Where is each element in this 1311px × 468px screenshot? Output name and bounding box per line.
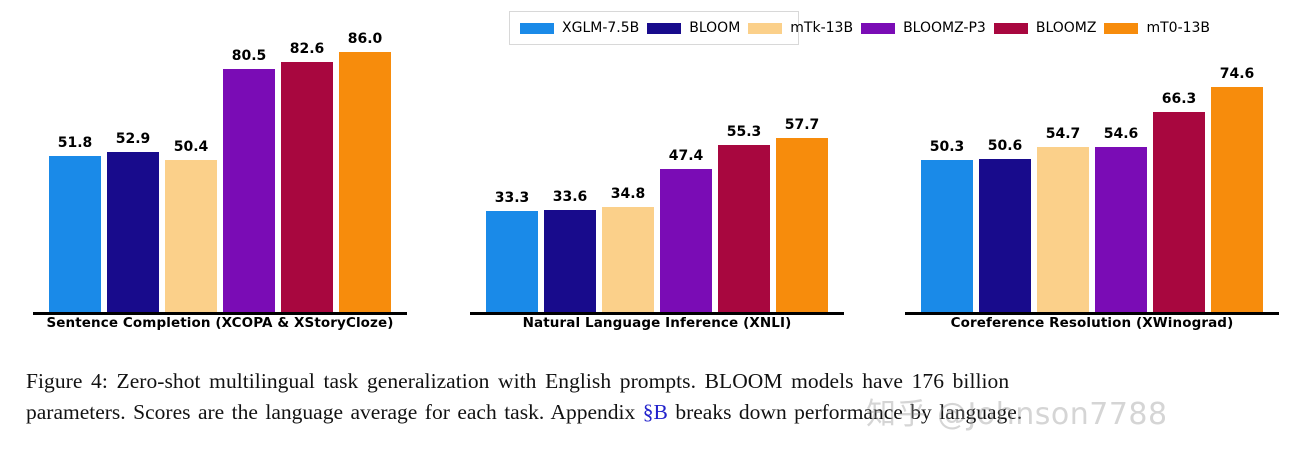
bar-item-bloomz[interactable]: 82.6 xyxy=(281,0,333,312)
figure-caption: Figure 4: Zero-shot multilingual task ge… xyxy=(26,366,1288,428)
bar-value-label: 54.7 xyxy=(1046,127,1081,141)
legend-item-label: BLOOMZ xyxy=(1036,21,1097,35)
caption-line-2-part-a: parameters. Scores are the language aver… xyxy=(26,400,643,424)
panel-axis-label: Natural Language Inference (XNLI) xyxy=(470,315,844,331)
bar-item-bloomz-p3[interactable]: 80.5 xyxy=(223,0,275,312)
bar-rect[interactable] xyxy=(49,156,101,312)
legend-swatch-icon xyxy=(748,23,782,34)
bar-value-label: 50.6 xyxy=(988,139,1023,153)
plot-area: 51.852.950.480.582.686.0 xyxy=(33,0,407,312)
legend-swatch-icon xyxy=(994,23,1028,34)
bar-rect[interactable] xyxy=(776,138,828,312)
bar-rect[interactable] xyxy=(281,62,333,312)
bar-item-bloom[interactable]: 52.9 xyxy=(107,0,159,312)
panel-axis-label: Sentence Completion (XCOPA & XStoryCloze… xyxy=(33,315,407,331)
plot-area: 33.333.634.847.455.357.7 xyxy=(470,0,844,312)
figure-container: 51.852.950.480.582.686.0Sentence Complet… xyxy=(0,0,1311,468)
plot-area: 50.350.654.754.666.374.6 xyxy=(905,0,1279,312)
bar-rect[interactable] xyxy=(165,160,217,312)
legend-item-label: mT0-13B xyxy=(1146,21,1210,35)
bar-item-mt0-13b[interactable]: 74.6 xyxy=(1211,0,1263,312)
legend-item-bloom[interactable]: BLOOM xyxy=(647,19,740,37)
bar-rect[interactable] xyxy=(339,52,391,312)
bar-rect[interactable] xyxy=(1095,147,1147,312)
bar-value-label: 80.5 xyxy=(232,49,267,63)
bar-item-bloomz[interactable]: 66.3 xyxy=(1153,0,1205,312)
legend-item-label: mTk-13B xyxy=(790,21,853,35)
bar-rect[interactable] xyxy=(1211,87,1263,312)
bar-value-label: 47.4 xyxy=(669,149,704,163)
bar-item-mt0-13b[interactable]: 86.0 xyxy=(339,0,391,312)
bar-item-xglm-7-5b[interactable]: 33.3 xyxy=(486,0,538,312)
bar-value-label: 33.3 xyxy=(495,191,530,205)
bar-rect[interactable] xyxy=(486,211,538,312)
bar-item-xglm-7-5b[interactable]: 50.3 xyxy=(921,0,973,312)
bar-rect[interactable] xyxy=(1037,147,1089,312)
legend-swatch-icon xyxy=(647,23,681,34)
bar-value-label: 52.9 xyxy=(116,132,151,146)
bar-value-label: 33.6 xyxy=(553,190,588,204)
bar-group: 51.852.950.480.582.686.0 xyxy=(49,0,391,312)
legend-item-bloomz-p3[interactable]: BLOOMZ-P3 xyxy=(861,19,986,37)
bar-item-bloomz[interactable]: 55.3 xyxy=(718,0,770,312)
legend-swatch-icon xyxy=(520,23,554,34)
bar-value-label: 57.7 xyxy=(785,118,820,132)
panel-axis-label: Coreference Resolution (XWinograd) xyxy=(905,315,1279,331)
caption-line-2: parameters. Scores are the language aver… xyxy=(26,397,1288,428)
bar-value-label: 50.4 xyxy=(174,140,209,154)
bar-item-bloom[interactable]: 50.6 xyxy=(979,0,1031,312)
bar-item-bloom[interactable]: 33.6 xyxy=(544,0,596,312)
legend-item-mt0-13b[interactable]: mT0-13B xyxy=(1104,19,1210,37)
bar-value-label: 50.3 xyxy=(930,140,965,154)
bar-item-mt0-13b[interactable]: 57.7 xyxy=(776,0,828,312)
legend-item-bloomz[interactable]: BLOOMZ xyxy=(994,19,1097,37)
bar-rect[interactable] xyxy=(718,145,770,312)
legend-item-label: XGLM-7.5B xyxy=(562,21,639,35)
bar-group: 33.333.634.847.455.357.7 xyxy=(486,0,828,312)
bar-value-label: 54.6 xyxy=(1104,127,1139,141)
bar-item-bloomz-p3[interactable]: 47.4 xyxy=(660,0,712,312)
bar-item-mtk-13b[interactable]: 34.8 xyxy=(602,0,654,312)
bar-rect[interactable] xyxy=(921,160,973,312)
bar-rect[interactable] xyxy=(602,207,654,312)
caption-section-reference-link[interactable]: §B xyxy=(643,400,668,424)
bar-value-label: 86.0 xyxy=(348,32,383,46)
bar-value-label: 74.6 xyxy=(1220,67,1255,81)
bar-rect[interactable] xyxy=(979,159,1031,312)
bar-value-label: 34.8 xyxy=(611,187,646,201)
bar-rect[interactable] xyxy=(223,69,275,312)
bar-value-label: 55.3 xyxy=(727,125,762,139)
legend-item-label: BLOOM xyxy=(689,21,740,35)
legend-item-xglm-7-5b[interactable]: XGLM-7.5B xyxy=(520,19,639,37)
chart-legend: XGLM-7.5BBLOOMmTk-13BBLOOMZ-P3BLOOMZmT0-… xyxy=(509,11,799,45)
legend-swatch-icon xyxy=(861,23,895,34)
bar-item-xglm-7-5b[interactable]: 51.8 xyxy=(49,0,101,312)
chart-panel-3: 50.350.654.754.666.374.6Coreference Reso… xyxy=(905,0,1279,345)
bar-value-label: 51.8 xyxy=(58,136,93,150)
bar-item-mtk-13b[interactable]: 54.7 xyxy=(1037,0,1089,312)
bar-item-mtk-13b[interactable]: 50.4 xyxy=(165,0,217,312)
bar-value-label: 66.3 xyxy=(1162,92,1197,106)
caption-line-2-part-b: breaks down performance by language. xyxy=(668,400,1022,424)
bar-value-label: 82.6 xyxy=(290,42,325,56)
bar-rect[interactable] xyxy=(107,152,159,312)
bar-group: 50.350.654.754.666.374.6 xyxy=(921,0,1263,312)
bar-rect[interactable] xyxy=(1153,112,1205,312)
chart-panel-1: 51.852.950.480.582.686.0Sentence Complet… xyxy=(33,0,407,345)
caption-line-1: Figure 4: Zero-shot multilingual task ge… xyxy=(26,366,1288,397)
legend-item-label: BLOOMZ-P3 xyxy=(903,21,986,35)
legend-swatch-icon xyxy=(1104,23,1138,34)
bar-rect[interactable] xyxy=(544,210,596,312)
legend-item-mtk-13b[interactable]: mTk-13B xyxy=(748,19,853,37)
bar-item-bloomz-p3[interactable]: 54.6 xyxy=(1095,0,1147,312)
chart-panel-2: 33.333.634.847.455.357.7Natural Language… xyxy=(470,0,844,345)
bar-rect[interactable] xyxy=(660,169,712,312)
